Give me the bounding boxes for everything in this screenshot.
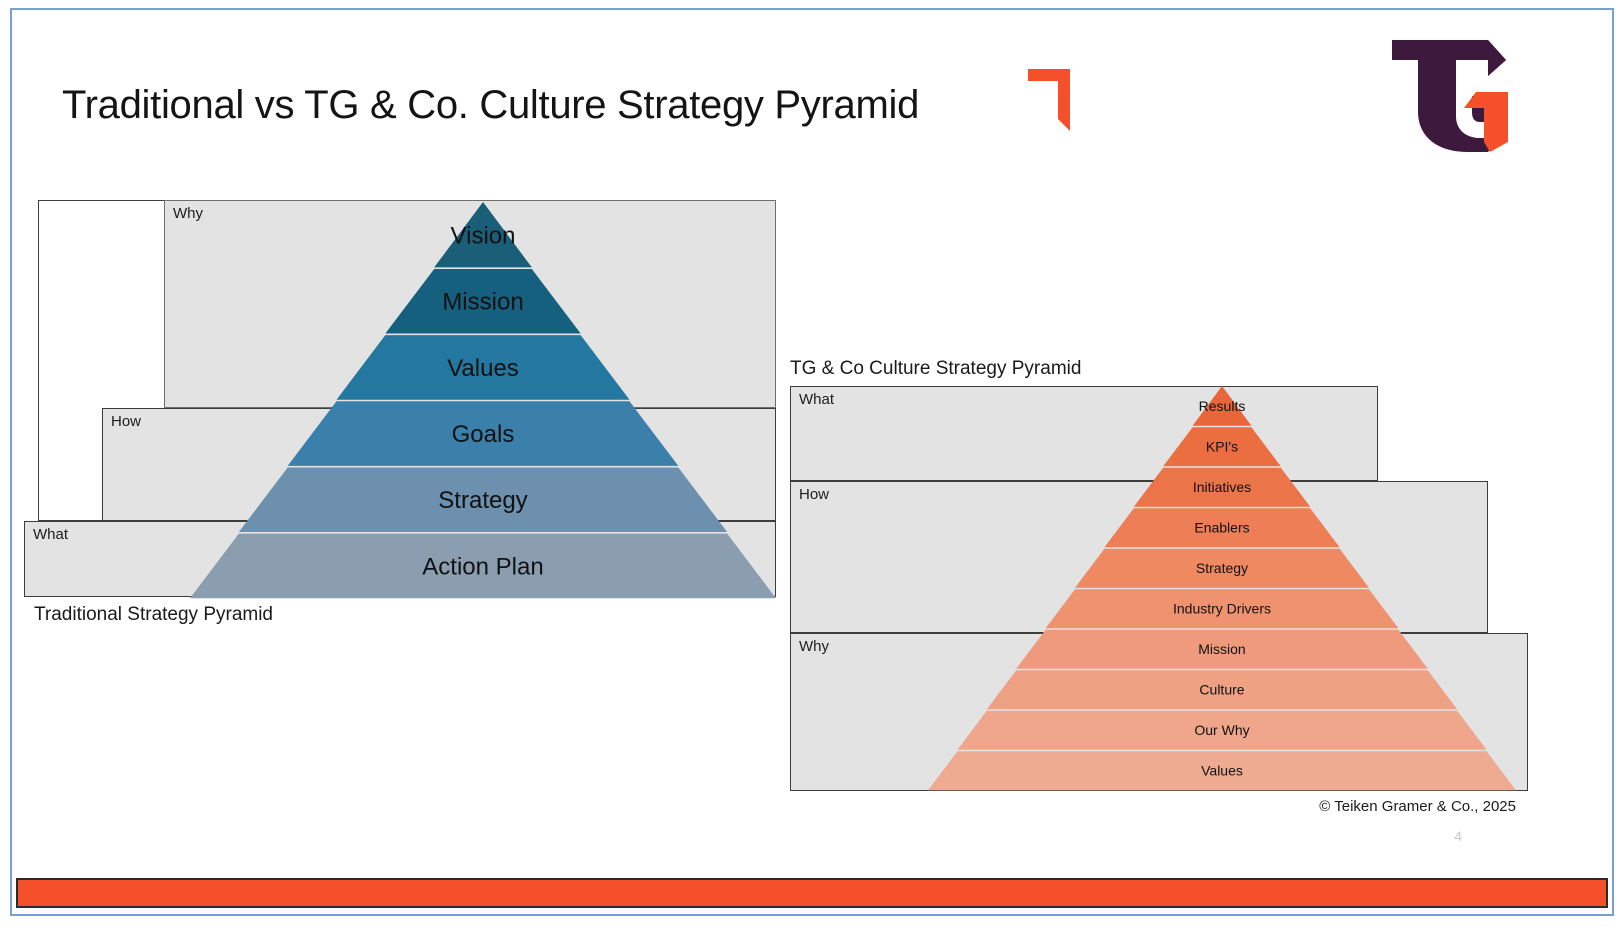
left-zone-what-label: What — [33, 526, 68, 543]
left-zone-how-label: How — [111, 413, 141, 430]
pyramid-tier-label: Values — [1201, 763, 1243, 779]
page-number: 4 — [1454, 828, 1462, 844]
pyramid-tier-label: Mission — [1198, 641, 1245, 657]
pyramid-tier-label: Culture — [1199, 682, 1244, 698]
pyramid-tier-label: Vision — [451, 222, 516, 249]
pyramid-tier-label: Goals — [452, 421, 515, 448]
pyramid-tier-label: Mission — [442, 289, 523, 316]
pyramid-tier-label: Results — [1199, 398, 1246, 414]
pyramid-tier-label: Industry Drivers — [1173, 601, 1271, 617]
page-title: Traditional vs TG & Co. Culture Strategy… — [62, 83, 919, 128]
right-zone-how-label: How — [799, 486, 829, 503]
right-pyramid-title: TG & Co Culture Strategy Pyramid — [790, 358, 1081, 380]
orange-corner-flag-icon — [1024, 65, 1074, 137]
right-zone-what-label: What — [799, 391, 834, 408]
pyramid-tier-label: Action Plan — [422, 553, 543, 580]
pyramid-tier-label: Values — [447, 355, 519, 382]
pyramid-tier-label: Our Why — [1194, 722, 1249, 738]
footer-accent-bar — [16, 878, 1608, 908]
pyramid-tier-label: KPI's — [1206, 439, 1238, 455]
pyramid-tier-label: Enablers — [1194, 520, 1249, 536]
pyramid-tier-label: Initiatives — [1193, 479, 1251, 495]
traditional-strategy-pyramid-diagram: Why How What VisionMissionValuesGoalsStr… — [24, 200, 784, 600]
pyramid-tier-label: Strategy — [438, 487, 527, 514]
left-pyramid-caption: Traditional Strategy Pyramid — [34, 604, 273, 626]
tg-culture-strategy-pyramid-diagram: TG & Co Culture Strategy Pyramid What Ho… — [778, 358, 1520, 806]
left-pyramid: VisionMissionValuesGoalsStrategyAction P… — [190, 202, 776, 599]
tg-monogram-logo — [1384, 30, 1514, 160]
right-pyramid: ResultsKPI'sInitiativesEnablersStrategyI… — [928, 386, 1516, 791]
pyramid-tier-label: Strategy — [1196, 560, 1248, 576]
copyright-notice: © Teiken Gramer & Co., 2025 — [1319, 798, 1516, 815]
right-zone-why-label: Why — [799, 638, 829, 655]
slide-canvas: Traditional vs TG & Co. Culture Strategy… — [10, 8, 1614, 916]
